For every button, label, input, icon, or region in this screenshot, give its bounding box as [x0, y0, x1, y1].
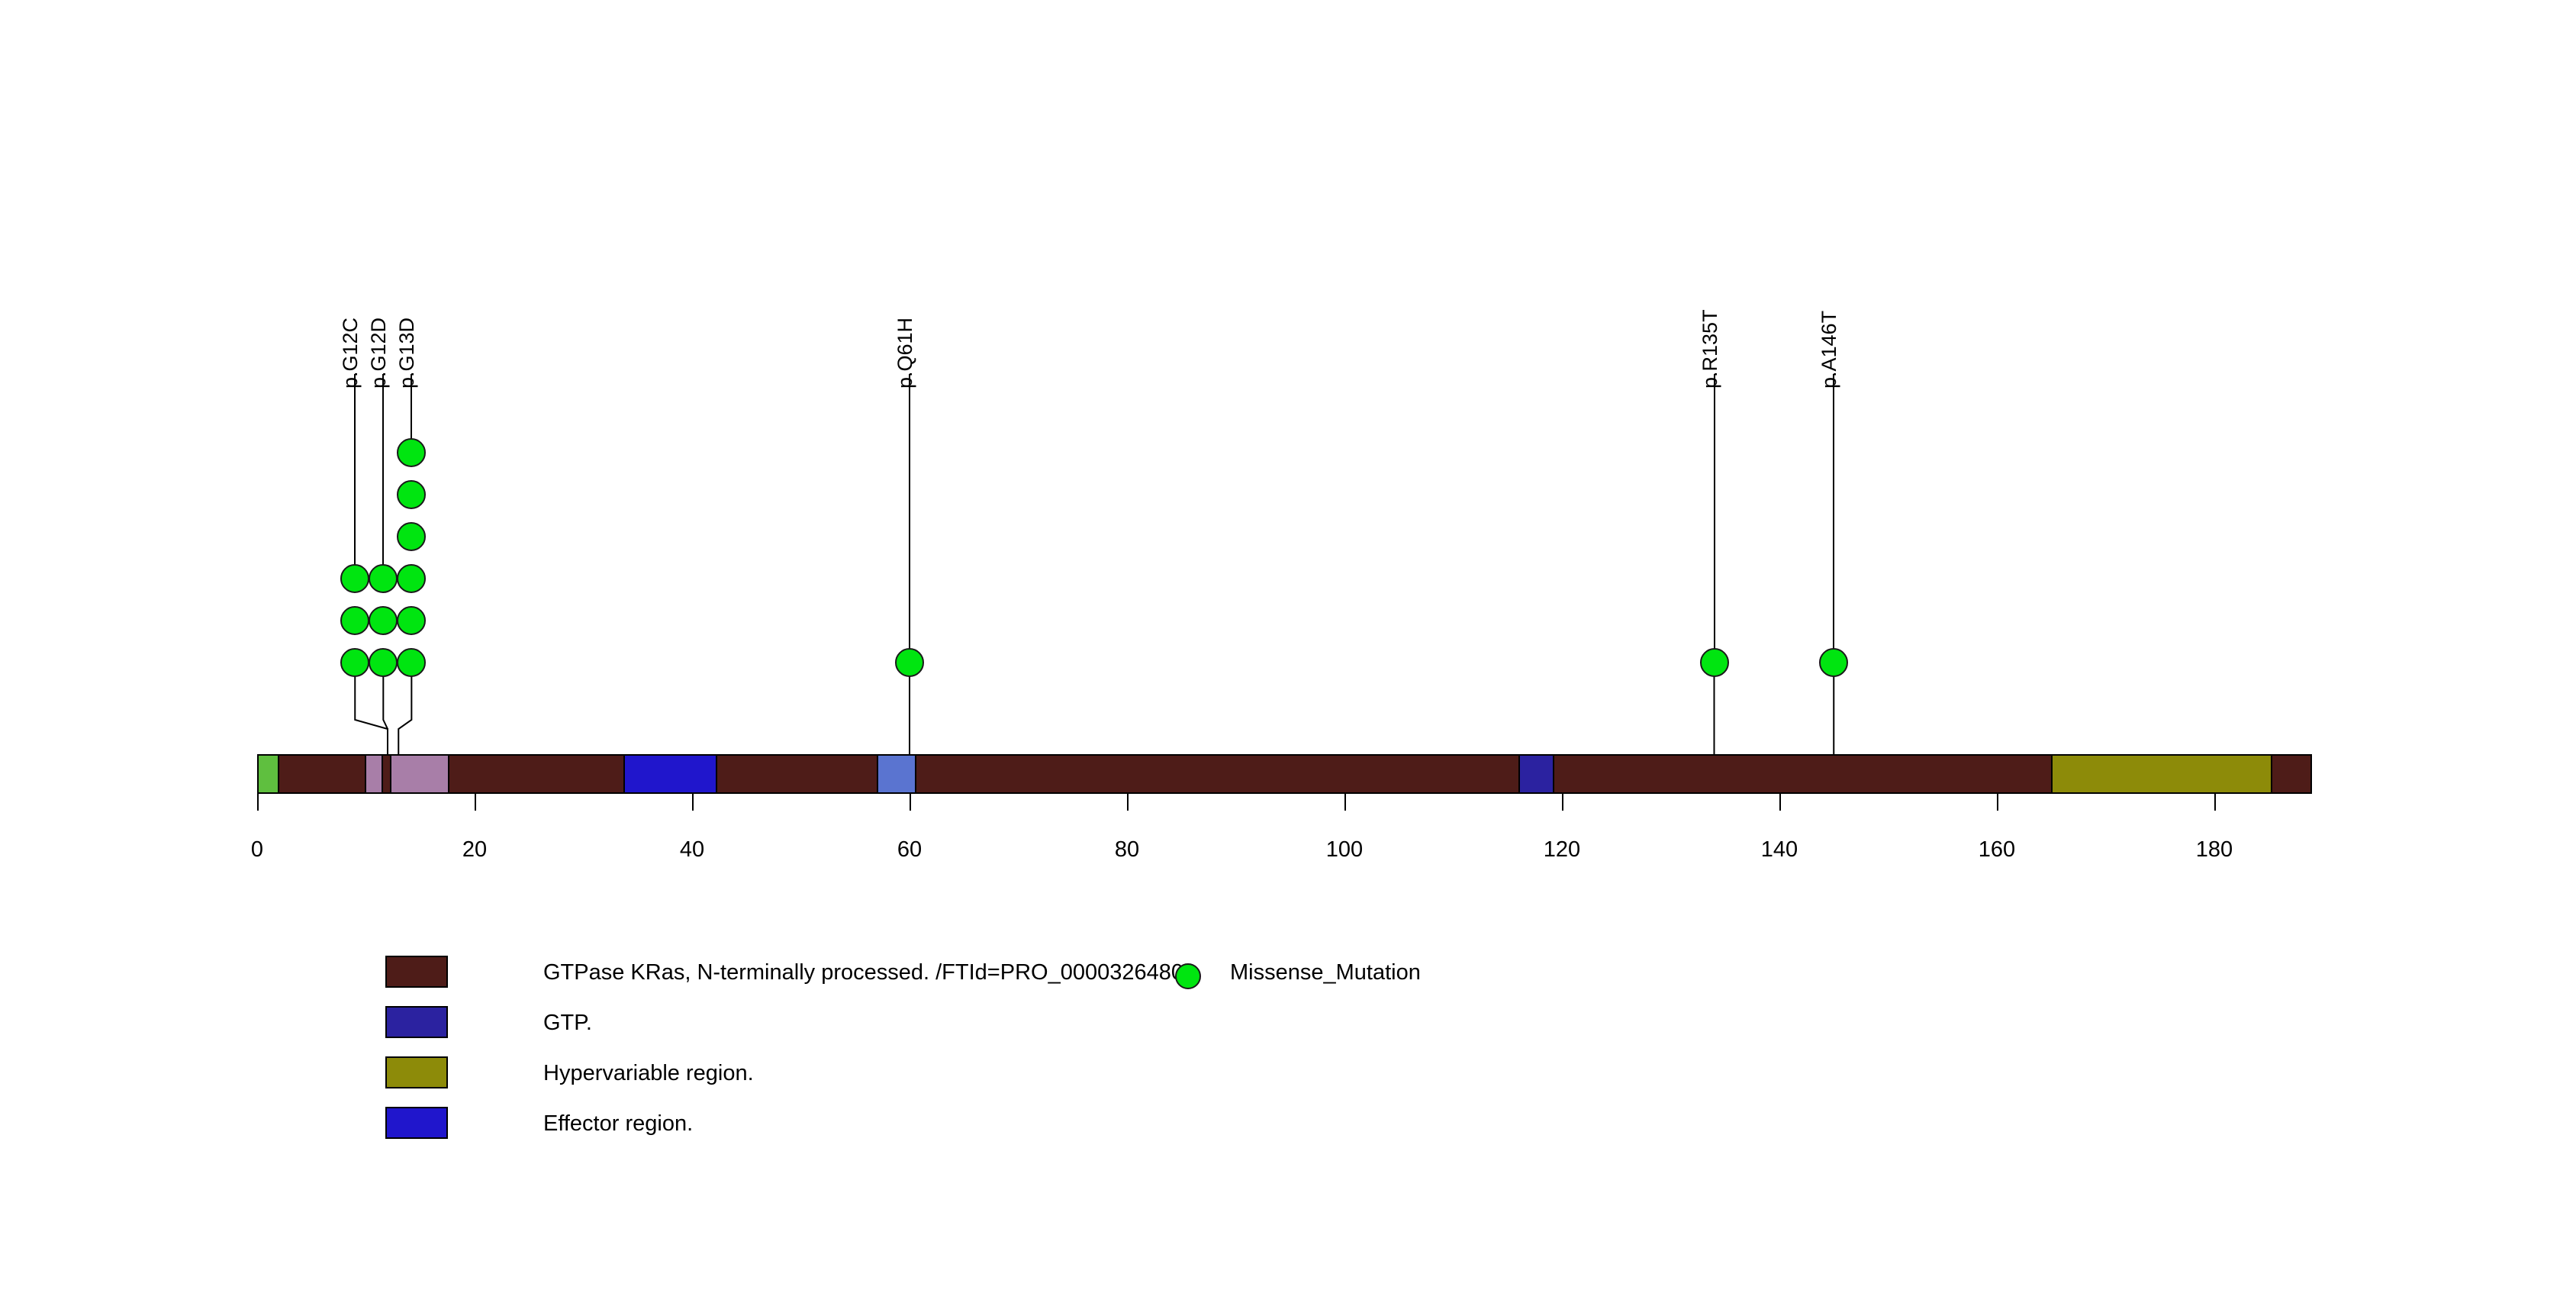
mutation-marker-p.G13D-6[interactable]	[397, 438, 426, 467]
mutation-marker-p.A146T-1[interactable]	[1819, 648, 1848, 677]
mutation-connector-p.R135T	[0, 0, 2576, 1290]
axis-tick-label-0: 0	[227, 837, 288, 863]
mutation-marker-p.G12C-3[interactable]	[340, 564, 369, 593]
axis-tick-label-100: 100	[1314, 837, 1375, 863]
mutation-stem-p.A146T	[1833, 374, 1834, 663]
legend-label-1: GTP.	[543, 1011, 592, 1036]
axis-tick-180	[2214, 794, 2216, 811]
legend-swatch-0[interactable]	[385, 956, 448, 988]
domain-segment-backbone[interactable]	[257, 754, 2312, 794]
axis-tick-40	[692, 794, 694, 811]
legend-swatch-3[interactable]	[385, 1107, 448, 1139]
mutation-marker-p.G13D-5[interactable]	[397, 480, 426, 509]
mutation-marker-p.G13D-4[interactable]	[397, 522, 426, 551]
axis-tick-label-40: 40	[662, 837, 723, 863]
axis-tick-0	[257, 794, 259, 811]
axis-tick-160	[1997, 794, 1998, 811]
axis-tick-100	[1344, 794, 1346, 811]
axis-tick-label-140: 140	[1749, 837, 1810, 863]
axis-tick-label-160: 160	[1966, 837, 2027, 863]
legend-label-2: Hypervariable region.	[543, 1061, 754, 1086]
mutation-marker-p.G12D-3[interactable]	[369, 564, 398, 593]
mutation-stem-p.Q61H	[909, 374, 910, 663]
axis-tick-60	[910, 794, 911, 811]
axis-tick-80	[1127, 794, 1129, 811]
mutation-marker-p.G12C-2[interactable]	[340, 606, 369, 635]
axis-tick-label-180: 180	[2184, 837, 2245, 863]
axis-tick-140	[1779, 794, 1781, 811]
legend-missense-marker[interactable]	[1175, 963, 1201, 989]
domain-segment-mauve-region-b[interactable]	[390, 754, 449, 794]
domain-segment-gtp-dark-region[interactable]	[1518, 754, 1554, 794]
mutation-label-p.G12D: p.G12D	[367, 318, 391, 389]
mutation-marker-p.G13D-2[interactable]	[397, 606, 426, 635]
axis-tick-label-120: 120	[1531, 837, 1592, 863]
legend-missense-label: Missense_Mutation	[1230, 960, 1421, 985]
legend-label-3: Effector region.	[543, 1111, 693, 1137]
mutation-label-p.Q61H: p.Q61H	[894, 318, 917, 389]
mutation-connector-p.Q61H	[0, 0, 2576, 1290]
mutation-stem-p.G12D	[382, 374, 384, 579]
mutation-marker-p.G13D-3[interactable]	[397, 564, 426, 593]
mutation-connector-p.G12C	[0, 0, 2576, 1290]
mutation-marker-p.Q61H-1[interactable]	[895, 648, 924, 677]
axis-tick-label-80: 80	[1096, 837, 1158, 863]
mutation-connector-p.G12D	[0, 0, 2576, 1290]
axis-tick-20	[475, 794, 476, 811]
axis-tick-label-60: 60	[879, 837, 940, 863]
domain-segment-gtp-light-region[interactable]	[877, 754, 916, 794]
mutation-marker-p.R135T-1[interactable]	[1700, 648, 1729, 677]
mutation-connector-p.G13D	[0, 0, 2576, 1290]
mutation-connector-p.A146T	[0, 0, 2576, 1290]
domain-segment-mauve-region-a[interactable]	[365, 754, 383, 794]
legend-label-0: GTPase KRas, N-terminally processed. /FT…	[543, 960, 1183, 985]
lollipop-plot: 020406080100120140160180p.G12Cp.G12Dp.G1…	[0, 0, 2576, 1290]
legend-swatch-1[interactable]	[385, 1006, 448, 1038]
mutation-stem-p.R135T	[1714, 374, 1715, 663]
mutation-label-p.A146T: p.A146T	[1818, 311, 1841, 389]
axis-tick-label-20: 20	[444, 837, 505, 863]
legend-swatch-2[interactable]	[385, 1056, 448, 1088]
mutation-label-p.G12C: p.G12C	[339, 318, 362, 389]
mutation-marker-p.G12C-1[interactable]	[340, 648, 369, 677]
mutation-label-p.R135T: p.R135T	[1699, 309, 1722, 389]
domain-segment-effector-region[interactable]	[623, 754, 717, 794]
mutation-marker-p.G12D-1[interactable]	[369, 648, 398, 677]
axis-tick-120	[1562, 794, 1563, 811]
mutation-marker-p.G13D-1[interactable]	[397, 648, 426, 677]
domain-segment-n-terminal-green[interactable]	[257, 754, 279, 794]
mutation-stem-p.G12C	[354, 374, 356, 579]
mutation-label-p.G13D: p.G13D	[395, 318, 419, 389]
mutation-marker-p.G12D-2[interactable]	[369, 606, 398, 635]
domain-segment-hypervariable-region[interactable]	[2051, 754, 2272, 794]
